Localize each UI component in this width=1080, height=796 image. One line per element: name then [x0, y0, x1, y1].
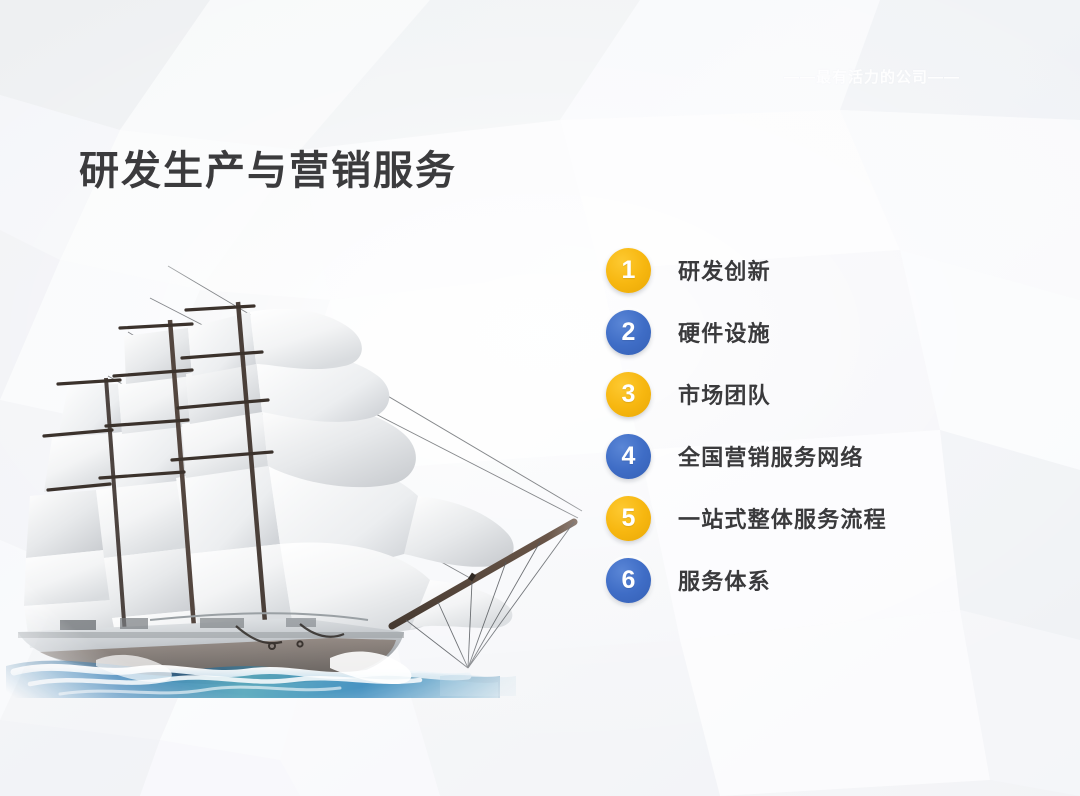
page-title: 研发生产与营销服务: [79, 148, 457, 194]
number-badge: 1: [606, 248, 651, 293]
list-item-label: 研发创新: [678, 254, 771, 286]
watermark-text: ——最有活力的公司——: [752, 66, 992, 87]
list-item[interactable]: 3 市场团队: [606, 363, 1026, 425]
list-item-label: 全国营销服务网络: [678, 440, 864, 472]
list-item-label: 硬件设施: [678, 316, 771, 348]
list-item-label: 服务体系: [678, 564, 771, 596]
list-item[interactable]: 1 研发创新: [606, 239, 1026, 301]
tall-ship-illustration: [0, 228, 620, 698]
list-item-label: 市场团队: [678, 378, 771, 410]
number-badge: 4: [606, 434, 651, 479]
list-item-label: 一站式整体服务流程: [678, 502, 887, 534]
number-badge: 6: [606, 558, 651, 603]
list-item[interactable]: 6 服务体系: [606, 549, 1026, 611]
number-badge: 5: [606, 496, 651, 541]
list-item[interactable]: 2 硬件设施: [606, 301, 1026, 363]
list-item[interactable]: 5 一站式整体服务流程: [606, 487, 1026, 549]
feature-list: 1 研发创新 2 硬件设施 3 市场团队 4 全国营销服务网络 5 一站式整体服…: [606, 239, 1026, 611]
number-badge: 3: [606, 372, 651, 417]
list-item[interactable]: 4 全国营销服务网络: [606, 425, 1026, 487]
number-badge: 2: [606, 310, 651, 355]
slide-root: ——最有活力的公司—— 研发生产与营销服务: [0, 0, 1080, 796]
